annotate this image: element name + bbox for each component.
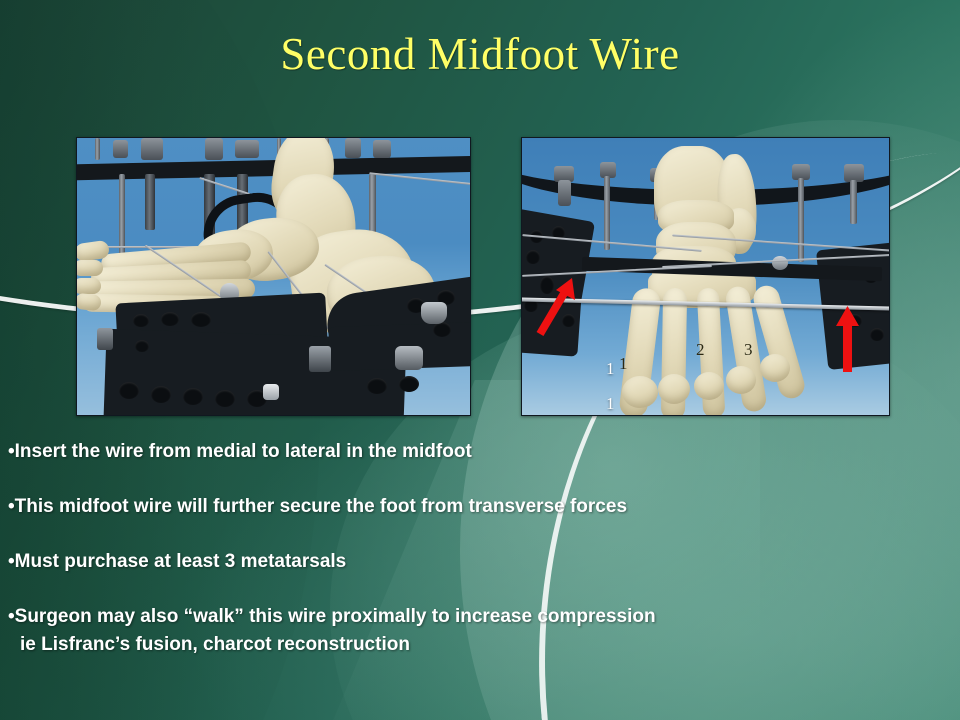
photo-dorsal-foot-fixator: 1 1 1 2 3 [521,137,890,416]
bullet-list: •Insert the wire from medial to lateral … [8,440,888,688]
fixator-nut [772,256,788,270]
plate-hole [183,388,203,405]
fixator-rod [95,138,100,160]
bullet-item-1: •Insert the wire from medial to lateral … [8,440,888,463]
photo-lateral-foot-fixator [76,137,471,416]
bullet-text: Surgeon may also “walk” this wire proxim… [15,606,656,627]
slide-title: Second Midfoot Wire [0,26,960,82]
red-arrow-right [832,306,866,372]
bullet-item-4: •Surgeon may also “walk” this wire proxi… [8,605,888,656]
bullet-marker: • [8,496,15,517]
fixator-rod [604,176,610,250]
bullet-text: Must purchase at least 3 metatarsals [15,551,347,572]
fixator-nut [373,140,391,158]
red-arrow-left [526,272,586,342]
plate-hole [133,314,149,327]
fixator-nut [141,138,163,160]
wire-fixation-bolt [421,302,447,324]
plate-hole [119,382,139,399]
plate-hole [399,376,419,392]
bone-metatarsal-head [726,366,756,394]
plate-hole [151,386,171,403]
wire-fixation-bolt [97,328,113,350]
wire-fixation-bolt [263,384,279,400]
bone-metatarsal-head [622,376,658,408]
fixator-nut [113,140,128,158]
bone-phalanx [76,260,103,276]
bullet-marker: • [8,441,15,462]
plate-hole [367,378,387,394]
bullet-marker: • [8,606,15,627]
bullet-item-2: •This midfoot wire will further secure t… [8,495,888,518]
fixator-rod [145,174,155,230]
fixator-rod-stub [558,180,571,206]
bone-metatarsal-head [760,354,790,382]
label-metatarsal-1-outer: 1 [606,360,615,377]
bone-phalanx [76,278,101,294]
label-metatarsal-3: 3 [744,341,753,358]
bone-metatarsal-head [694,372,724,400]
plate-hole [433,322,451,337]
bone-metatarsal-head [658,374,690,404]
wire-fixation-bolt [395,346,423,370]
bone-phalanx [76,293,102,311]
photo-left-content [77,138,470,415]
label-metatarsal-1-lower: 1 [606,395,615,412]
plate-hole [161,312,179,326]
bullet-item-3: •Must purchase at least 3 metatarsals [8,550,888,573]
plate-hole [870,328,884,341]
fixator-nut [235,140,259,158]
fixator-rod [798,178,804,262]
wire-fixation-bolt [309,346,331,372]
fixator-nut [345,138,361,158]
slide: Second Midfoot Wire [0,0,960,720]
plate-hole [526,250,540,264]
bullet-marker: • [8,551,15,572]
bullet-text: This midfoot wire will further secure th… [15,496,627,517]
label-metatarsal-2: 2 [696,341,705,358]
photo-right-content: 1 1 1 2 3 [522,138,889,415]
plate-hole [215,390,235,407]
plate-hole [135,340,149,352]
label-metatarsal-1: 1 [619,355,628,372]
fixator-rod [850,180,857,224]
bullet-text: Insert the wire from medial to lateral i… [15,441,472,462]
plate-hole [191,312,211,327]
fixator-nut [205,138,223,160]
bullet-subtext: ie Lisfranc’s fusion, charcot reconstruc… [8,633,888,656]
